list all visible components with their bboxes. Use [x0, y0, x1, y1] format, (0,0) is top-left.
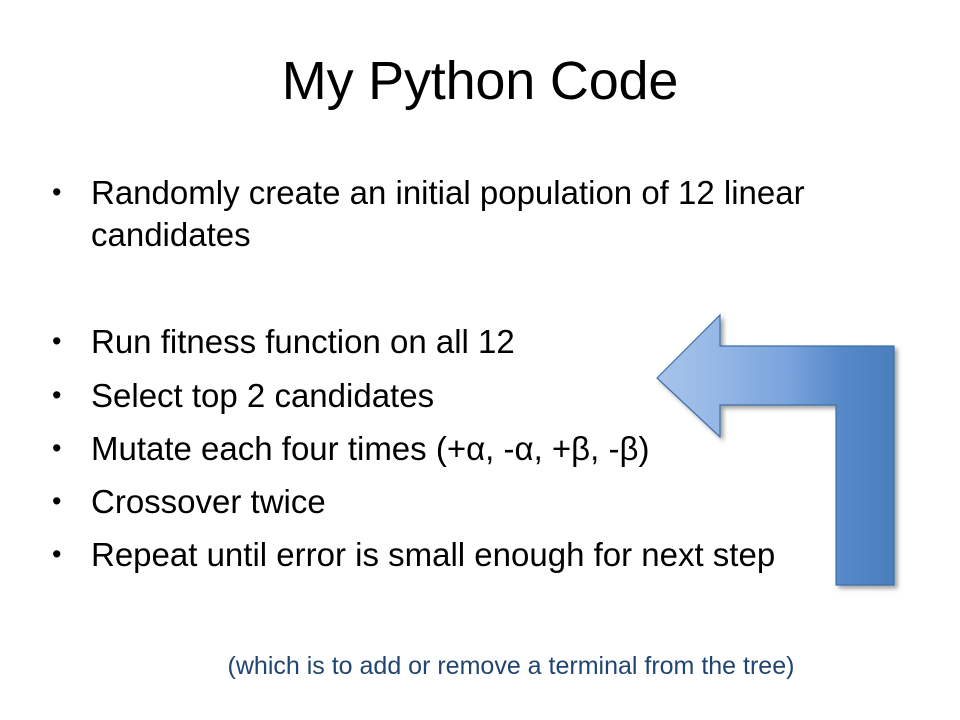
page-title: My Python Code	[0, 50, 960, 112]
bullet-dot-icon: •	[52, 534, 91, 575]
list-item: • Run fitness function on all 12	[52, 321, 932, 363]
list-item-label: Repeat until error is small enough for n…	[91, 534, 932, 576]
list-item-label: Randomly create an initial population of…	[91, 172, 861, 256]
bullet-dot-icon: •	[52, 321, 91, 362]
list-item-label: Select top 2 candidates	[91, 375, 932, 417]
list-item-label: Mutate each four times (+α, -α, +β, -β)	[91, 428, 932, 470]
sub-note-text: (which is to add or remove a terminal fr…	[0, 652, 960, 681]
list-item-label: Crossover twice	[91, 481, 932, 523]
bullet-dot-icon: •	[52, 481, 91, 522]
bullet-list: • Randomly create an initial population …	[52, 172, 932, 588]
slide-canvas: My Python Code • Randomly create an init…	[0, 0, 960, 720]
list-item: • Mutate each four times (+α, -α, +β, -β…	[52, 428, 932, 470]
bullet-dot-icon: •	[52, 375, 91, 416]
bullet-dot-icon: •	[52, 428, 91, 469]
list-item: • Select top 2 candidates	[52, 375, 932, 417]
list-item: • Randomly create an initial population …	[52, 172, 932, 256]
bullet-spacer	[52, 267, 932, 321]
list-item-label: Run fitness function on all 12	[91, 321, 932, 363]
bullet-dot-icon: •	[52, 172, 91, 213]
list-item: • Crossover twice	[52, 481, 932, 523]
list-item: • Repeat until error is small enough for…	[52, 534, 932, 576]
